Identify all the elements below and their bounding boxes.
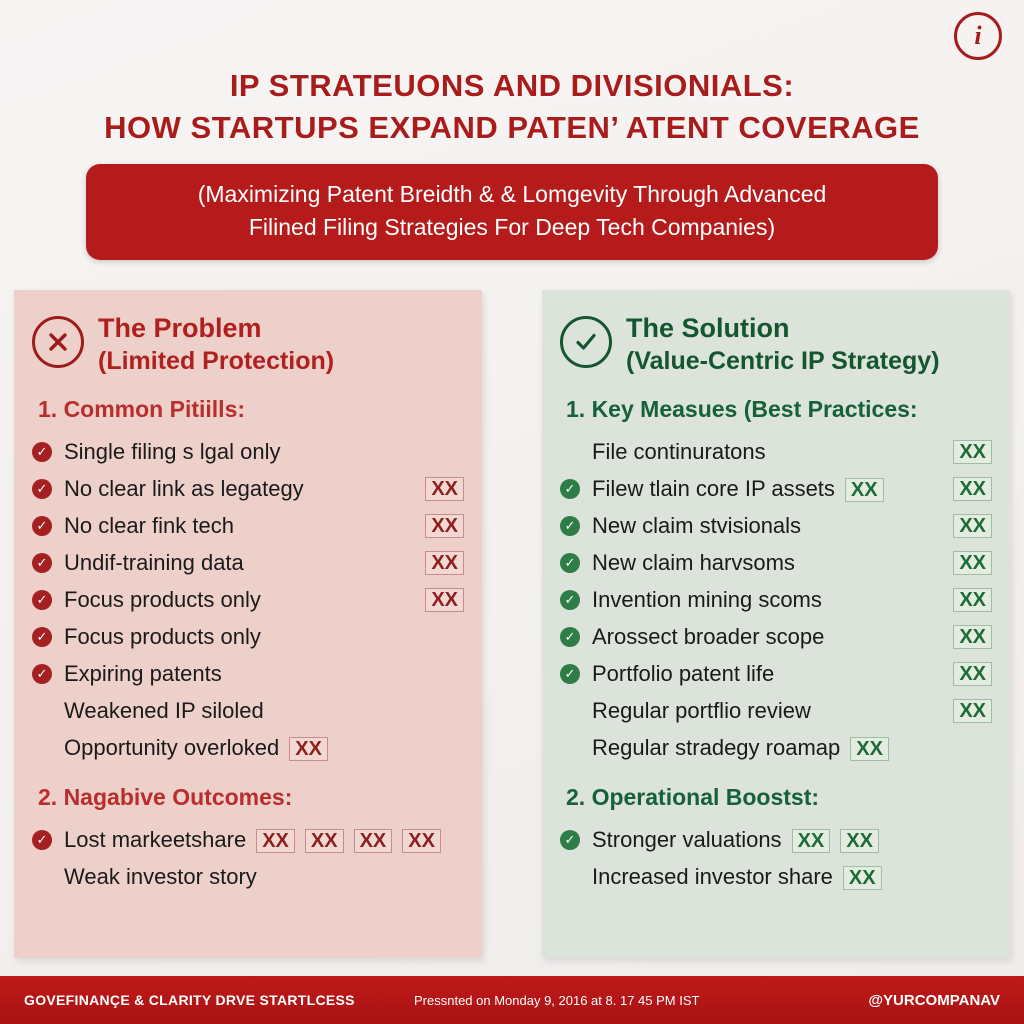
list-item-label: File continuratons [592, 437, 953, 467]
xx-badge: XX [425, 477, 464, 501]
solution-list-1: File continuratonsXX✓Filew tlain core IP… [560, 433, 992, 766]
list-item: ✓Portfolio patent lifeXX [560, 655, 992, 692]
footer-timestamp: Pressnted on Monday 9, 2016 at 8. 17 45 … [404, 993, 800, 1008]
xx-badge: XX [256, 829, 295, 853]
xx-badge: XX [845, 478, 884, 502]
list-item-label: Portfolio patent life [592, 659, 953, 689]
xx-badge: XX [354, 829, 393, 853]
check-badge-icon: ✓ [560, 627, 580, 647]
check-badge-icon: ✓ [32, 516, 52, 536]
list-item-label: Regular stradegy roamapXX [592, 733, 992, 763]
panels-container: The Problem (Limited Protection) 1. Comm… [0, 290, 1024, 958]
problem-list-2: ✓Lost markeetshareXXXXXXXXWeak investor … [32, 821, 464, 895]
subtitle-banner: (Maximizing Patent Breidth & & Lomgevity… [86, 164, 938, 260]
xx-badge-group: XX [953, 588, 992, 612]
list-item: ✓Filew tlain core IP assetsXXXX [560, 470, 992, 507]
solution-panel: The Solution (Value-Centric IP Strategy)… [542, 290, 1010, 958]
xx-badge: XX [425, 551, 464, 575]
list-item-label: Invention mining scoms [592, 585, 953, 615]
solution-section1-title: 1. Key Measues (Best Practices: [566, 396, 992, 423]
list-item: ✓New claim harvsomsXX [560, 544, 992, 581]
list-item-label: Increased investor shareXX [592, 862, 992, 892]
bullet-spacer [560, 738, 580, 758]
check-circle-icon [560, 316, 612, 368]
xx-badge-group: XX [425, 514, 464, 538]
xx-badge-group: XX [425, 588, 464, 612]
list-item-label: Focus products only [64, 622, 464, 652]
list-item: ✓Undif-training dataXX [32, 544, 464, 581]
list-item: ✓New claim stvisionalsXX [560, 507, 992, 544]
problem-header: The Problem (Limited Protection) [32, 312, 464, 378]
subtitle-line-1: (Maximizing Patent Breidth & & Lomgevity… [110, 178, 914, 211]
list-item-label: Lost markeetshareXXXXXXXX [64, 825, 464, 855]
xx-badge: XX [425, 514, 464, 538]
xx-badge-group: XX [953, 699, 992, 723]
solution-subtitle: (Value-Centric IP Strategy) [626, 344, 992, 378]
list-item: ✓Stronger valuationsXXXX [560, 821, 992, 858]
list-item-label: Opportunity overlokedXX [64, 733, 464, 763]
list-item: ✓Focus products onlyXX [32, 581, 464, 618]
xx-badge-group: XX [953, 662, 992, 686]
header-block: IP STRATEUONS AND DIVISIONIALS: HOW STAR… [0, 0, 1024, 260]
problem-subtitle: (Limited Protection) [98, 344, 464, 378]
list-item: Regular stradegy roamapXX [560, 729, 992, 766]
check-badge-icon: ✓ [32, 553, 52, 573]
info-icon-glyph: i [974, 23, 981, 49]
solution-section2-title: 2. Operational Boostst: [566, 784, 992, 811]
xx-badge: XX [792, 829, 831, 853]
check-badge-icon: ✓ [560, 664, 580, 684]
solution-title: The Solution [626, 312, 992, 344]
xx-badge-group: XX [953, 440, 992, 464]
check-badge-icon: ✓ [560, 830, 580, 850]
list-item: ✓No clear fink techXX [32, 507, 464, 544]
list-item-label: New claim harvsoms [592, 548, 953, 578]
xx-badge: XX [953, 699, 992, 723]
list-item-label: No clear fink tech [64, 511, 425, 541]
check-badge-icon: ✓ [32, 664, 52, 684]
list-item: Opportunity overlokedXX [32, 729, 464, 766]
xx-badge-group: XX [953, 514, 992, 538]
list-item-label: Regular portflio review [592, 696, 953, 726]
list-item-label: Undif-training data [64, 548, 425, 578]
xx-badge-group: XX [953, 551, 992, 575]
bullet-spacer [32, 867, 52, 887]
list-item: ✓Expiring patents [32, 655, 464, 692]
list-item: ✓No clear link as legategyXX [32, 470, 464, 507]
subtitle-line-2: Filined Filing Strategies For Deep Tech … [110, 211, 914, 244]
list-item: File continuratonsXX [560, 433, 992, 470]
problem-title: The Problem [98, 312, 464, 344]
xx-badge: XX [843, 866, 882, 890]
list-item-label: Expiring patents [64, 659, 464, 689]
footer-handle: @YURCOMPANAV [800, 992, 1000, 1009]
xx-badge: XX [953, 440, 992, 464]
x-circle-icon [32, 316, 84, 368]
problem-section2-title: 2. Nagabive Outcomes: [38, 784, 464, 811]
bullet-spacer [32, 738, 52, 758]
xx-badge: XX [953, 551, 992, 575]
footer-bar: GOVEFINANÇE & CLARITY DRVE STARTLCESS Pr… [0, 976, 1024, 1024]
xx-badge: XX [850, 737, 889, 761]
xx-badge: XX [305, 829, 344, 853]
xx-badge: XX [289, 737, 328, 761]
page-title-line-1: IP STRATEUONS AND DIVISIONIALS: [0, 66, 1024, 106]
list-item-label: Single filing s lgal only [64, 437, 464, 467]
xx-badge: XX [953, 588, 992, 612]
problem-list-1: ✓Single filing s lgal only✓No clear link… [32, 433, 464, 766]
xx-badge-group: XX [953, 477, 992, 501]
list-item: ✓Single filing s lgal only [32, 433, 464, 470]
xx-badge-group: XX [953, 625, 992, 649]
list-item-label: No clear link as legategy [64, 474, 425, 504]
list-item-label: Focus products only [64, 585, 425, 615]
list-item-label: Weak investor story [64, 862, 464, 892]
bullet-spacer [560, 701, 580, 721]
list-item-label: Weakened IP siloled [64, 696, 464, 726]
list-item-label: Arossect broader scope [592, 622, 953, 652]
page-title-line-2: HOW STARTUPS EXPAND PATEN’ ATENT COVERAG… [0, 106, 1024, 150]
problem-panel: The Problem (Limited Protection) 1. Comm… [14, 290, 482, 958]
problem-section1-title: 1. Common Pitiills: [38, 396, 464, 423]
xx-badge-group: XX [425, 551, 464, 575]
list-item: ✓Lost markeetshareXXXXXXXX [32, 821, 464, 858]
list-item-label: Stronger valuationsXXXX [592, 825, 992, 855]
check-badge-icon: ✓ [32, 830, 52, 850]
solution-header: The Solution (Value-Centric IP Strategy) [560, 312, 992, 378]
list-item: ✓Arossect broader scopeXX [560, 618, 992, 655]
list-item: Weakened IP siloled [32, 692, 464, 729]
xx-badge: XX [953, 662, 992, 686]
solution-list-2: ✓Stronger valuationsXXXXIncreased invest… [560, 821, 992, 895]
bullet-spacer [560, 867, 580, 887]
list-item: Weak investor story [32, 858, 464, 895]
check-badge-icon: ✓ [560, 590, 580, 610]
check-badge-icon: ✓ [32, 442, 52, 462]
check-badge-icon: ✓ [560, 516, 580, 536]
xx-badge: XX [402, 829, 441, 853]
xx-badge: XX [953, 477, 992, 501]
footer-tagline: GOVEFINANÇE & CLARITY DRVE STARTLCESS [24, 992, 404, 1008]
xx-badge: XX [953, 625, 992, 649]
xx-badge: XX [425, 588, 464, 612]
check-badge-icon: ✓ [560, 553, 580, 573]
check-badge-icon: ✓ [32, 590, 52, 610]
list-item-label: New claim stvisionals [592, 511, 953, 541]
bullet-spacer [32, 701, 52, 721]
bullet-spacer [560, 442, 580, 462]
info-icon[interactable]: i [954, 12, 1002, 60]
list-item: Increased investor shareXX [560, 858, 992, 895]
list-item: ✓Focus products only [32, 618, 464, 655]
check-badge-icon: ✓ [560, 479, 580, 499]
check-badge-icon: ✓ [32, 479, 52, 499]
xx-badge-group: XX [425, 477, 464, 501]
xx-badge: XX [953, 514, 992, 538]
list-item-label: Filew tlain core IP assetsXX [592, 474, 953, 504]
list-item: ✓Invention mining scomsXX [560, 581, 992, 618]
list-item: Regular portflio reviewXX [560, 692, 992, 729]
xx-badge: XX [840, 829, 879, 853]
check-badge-icon: ✓ [32, 627, 52, 647]
